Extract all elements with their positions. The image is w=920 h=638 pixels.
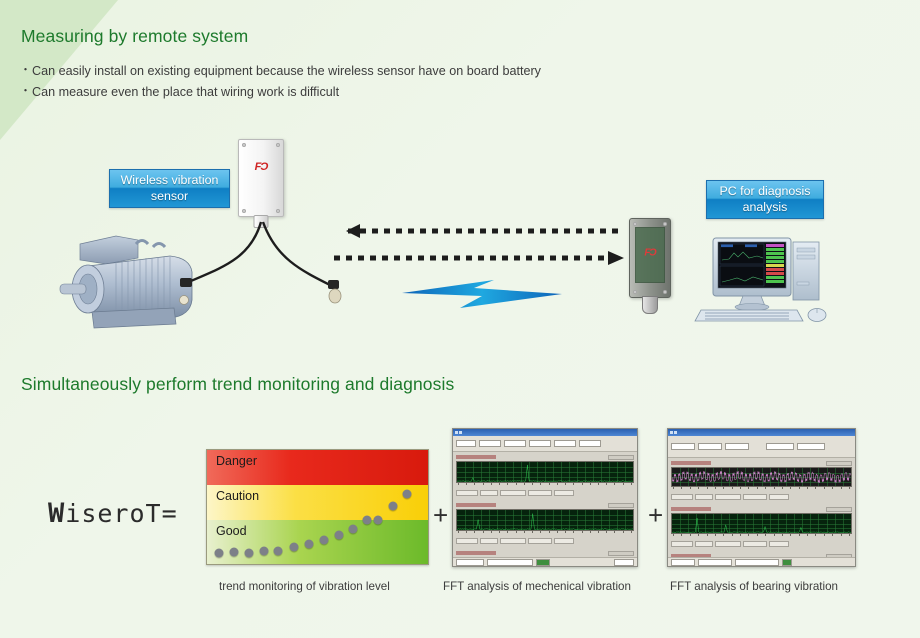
panel-label [671,507,711,511]
status-field [671,559,695,566]
spectrum-panel-list [453,452,637,567]
band-label: Good [216,524,247,538]
status-indicator [782,559,792,566]
trend-data-point [244,548,253,557]
panel-button[interactable] [554,538,574,544]
window-icon [670,431,673,434]
panel-button[interactable] [528,490,552,496]
panel-control[interactable] [608,503,634,508]
spectrum-panel [668,458,855,504]
toolbar-field[interactable] [554,440,576,447]
caption-trend-monitoring: trend monitoring of vibration level [219,580,390,593]
spectrum-panel-list [668,458,855,567]
trend-data-point [215,549,224,558]
trend-data-point [259,547,268,556]
trend-data-point [274,547,283,556]
band-danger: Danger [207,450,428,485]
plot-canvas [671,467,852,487]
panel-button[interactable] [695,541,713,547]
slide-canvas: Measuring by remote system ・Can easily i… [0,0,920,638]
band-label: Danger [216,454,257,468]
status-field [614,559,634,566]
panel-button-row[interactable] [671,493,852,501]
window-titlebar [453,429,637,436]
panel-button[interactable] [500,490,526,496]
trend-data-point [388,502,397,511]
band-good: Good [207,520,428,564]
plot-canvas [456,461,634,483]
bullet-text: Can measure even the place that wiring w… [32,85,339,99]
toolbar-field[interactable] [529,440,551,447]
fft-mechanical-vibration-window[interactable] [452,428,638,567]
pc-workstation-illustration [693,222,843,322]
arrow-head-right [608,251,624,265]
bullet-item: ・Can easily install on existing equipmen… [20,61,541,78]
trend-data-point [374,515,383,524]
panel-button[interactable] [500,538,526,544]
window-statusbar [668,557,855,566]
panel-button[interactable] [456,538,478,544]
fuji-logo-icon: FƆ [644,248,655,259]
bullet-marker-icon: ・ [20,64,31,76]
lightning-bolt-icon [402,272,567,314]
trend-data-point [362,516,371,525]
band-label: Caution [216,489,259,503]
plot-axis [671,487,852,492]
panel-button[interactable] [480,538,498,544]
page-title-trend-monitoring: Simultaneously perform trend monitoring … [21,374,454,395]
panel-button[interactable] [671,494,693,500]
spectrum-trace [457,510,633,530]
panel-control[interactable] [608,455,634,460]
trend-data-point [348,525,357,534]
brand-mark: W [48,498,65,529]
toolbar-field[interactable] [671,443,695,450]
callout-line-2: analysis [713,199,817,215]
plot-axis [456,531,634,536]
bullet-text: Can easily install on existing equipment… [32,64,541,78]
spectrum-trace [457,462,633,482]
spectrum-panel [453,452,637,500]
panel-button[interactable] [743,541,767,547]
window-icon [674,431,677,434]
arrow-head-left [346,224,360,238]
panel-button-row[interactable] [671,540,852,548]
toolbar-field[interactable] [797,443,825,450]
wireless-vibration-sensor-unit: FƆ [238,139,284,217]
operator-plus: + [648,500,663,531]
status-field [735,559,779,566]
window-icon [459,431,462,434]
panel-button[interactable] [695,494,713,500]
toolbar-field[interactable] [479,440,501,447]
bidirectional-link-arrows [330,222,626,270]
screw-icon [633,290,637,294]
receiver-enclosure-body: FƆ [629,218,671,298]
callout-wireless-vibration-sensor: Wireless vibration sensor [109,169,230,208]
panel-button[interactable] [769,494,789,500]
trend-monitoring-chart: Danger Caution Good [206,449,429,565]
window-titlebar [668,429,855,436]
panel-button[interactable] [715,494,741,500]
trend-data-point [334,530,343,539]
screw-icon [633,222,637,226]
page-title-remote-system: Measuring by remote system [21,26,248,47]
plot-axis [456,483,634,488]
fft-bearing-vibration-window[interactable] [667,428,856,567]
panel-button[interactable] [554,490,574,496]
toolbar-field[interactable] [766,443,794,450]
panel-button[interactable] [769,541,789,547]
caption-fft-bearing: FFT analysis of bearing vibration [670,580,838,593]
panel-button[interactable] [743,494,767,500]
spectrum-panel [453,500,637,548]
trend-data-point [403,489,412,498]
screw-icon [663,290,667,294]
wireless-receiver-unit: FƆ [629,218,671,298]
caption-fft-mechanical: FFT analysis of mechenical vibration [443,580,631,593]
panel-control[interactable] [826,507,852,512]
panel-label [456,455,496,459]
trend-data-point [229,548,238,557]
callout-line-1: PC for diagnosis [713,183,817,199]
panel-label [456,503,496,507]
callout-line-2: sensor [116,188,223,204]
bullet-item: ・Can measure even the place that wiring … [20,82,339,99]
panel-button[interactable] [480,490,498,496]
fuji-logo-icon: FƆ [255,161,268,173]
trend-data-point [319,535,328,544]
plot-canvas [671,513,852,534]
cable-gland-icon [642,296,658,314]
panel-button[interactable] [671,541,693,547]
screw-icon [242,143,246,147]
toolbar-field[interactable] [504,440,526,447]
panel-label [456,551,496,555]
spectrum-trace [672,514,851,533]
screw-icon [276,143,280,147]
callout-line-1: Wireless vibration [116,172,223,188]
equals-sign: = [162,499,178,528]
sensor-enclosure-body: FƆ [238,139,284,217]
window-statusbar [453,557,637,566]
status-field [698,559,732,566]
panel-label [671,461,711,465]
status-field [456,559,484,566]
window-toolbar[interactable] [453,436,637,452]
screw-icon [663,222,667,226]
panel-button[interactable] [715,541,741,547]
toolbar-field[interactable] [698,443,722,450]
plot-axis [671,534,852,539]
bullet-marker-icon: ・ [20,85,31,97]
toolbar-field[interactable] [725,443,749,450]
window-icon [455,431,458,434]
wiserot-brand-logo: WiseroT= [48,498,178,529]
trend-data-point [305,540,314,549]
time-waveform [672,468,851,486]
panel-button[interactable] [456,490,478,496]
toolbar-field[interactable] [456,440,476,447]
panel-control[interactable] [608,551,634,556]
plot-canvas [456,509,634,531]
operator-plus: + [433,500,448,531]
window-toolbar[interactable] [668,436,855,458]
panel-button[interactable] [528,538,552,544]
toolbar-field[interactable] [579,440,601,447]
panel-button-row[interactable] [456,489,634,497]
status-field [487,559,533,566]
panel-control[interactable] [826,461,852,466]
status-indicator [536,559,550,566]
callout-pc-for-diagnosis-analysis: PC for diagnosis analysis [706,180,824,219]
panel-button-row[interactable] [456,537,634,545]
brand-name: iseroT [65,499,161,528]
spectrum-panel [668,504,855,551]
trend-data-point [290,542,299,551]
